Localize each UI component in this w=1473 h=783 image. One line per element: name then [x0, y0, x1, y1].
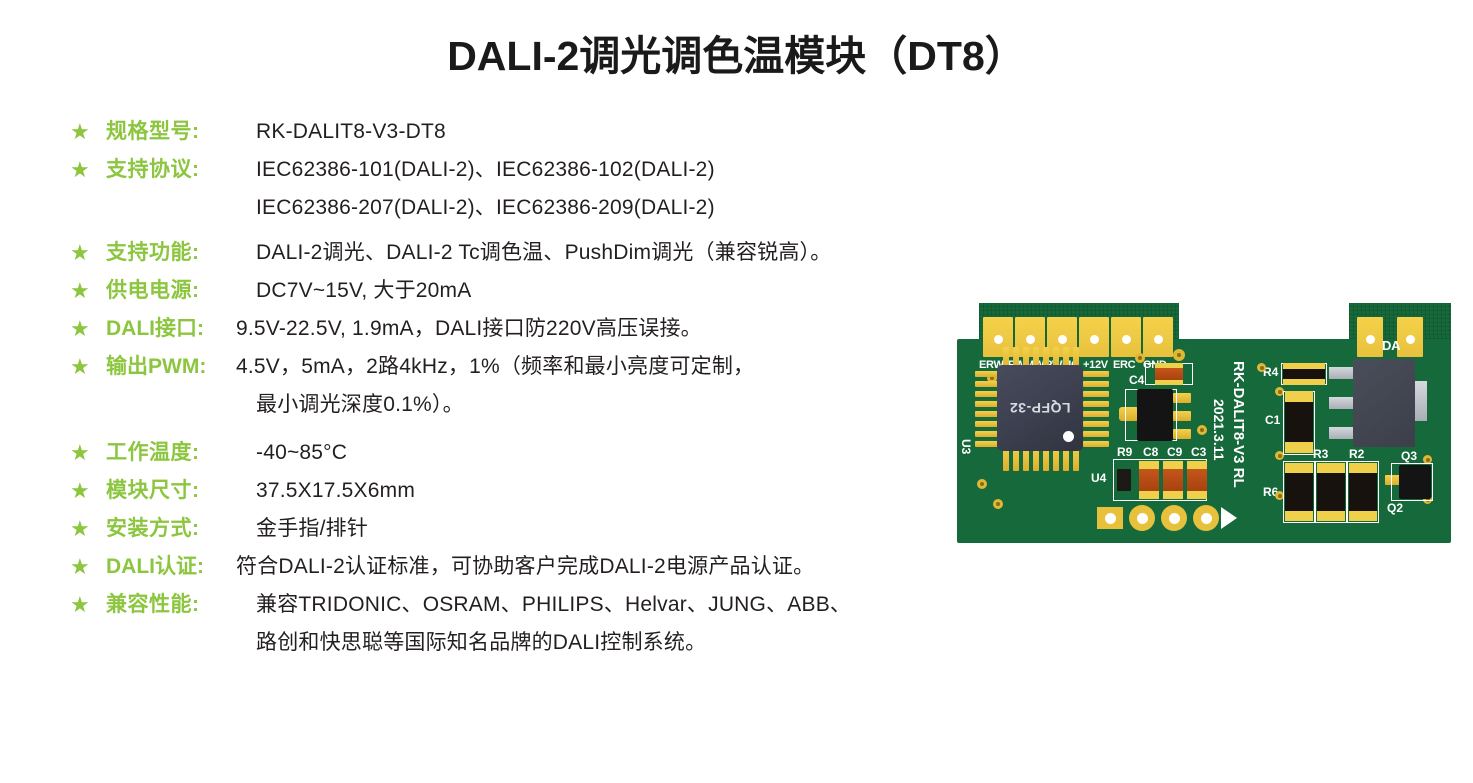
pad-hole	[1058, 335, 1067, 344]
silk-board-id: RK-DALIT8-V3 RL	[1230, 361, 1247, 488]
spec-value: 37.5X17.5X6mm	[256, 472, 998, 510]
pad-hole	[1406, 335, 1415, 344]
spec-value-continued: 路创和快思聪等国际知名品牌的DALI控制系统。	[256, 624, 998, 662]
main-chip-lqfp32: LQFP-32	[997, 365, 1083, 451]
spec-value: IEC62386-101(DALI-2)、IEC62386-102(DALI-2…	[256, 151, 998, 189]
via	[1135, 353, 1145, 363]
dali-2-pcb-module-photo: ERW PWMW PWMC +12V ERC GND DA	[957, 303, 1451, 543]
pad-hole	[1122, 335, 1131, 344]
spec-row: ★ DALI认证: 符合DALI-2认证标准，可协助客户完成DALI-2电源产品…	[68, 548, 998, 586]
spec-value: 符合DALI-2认证标准，可协助客户完成DALI-2电源产品认证。	[236, 548, 998, 586]
star-icon: ★	[68, 272, 106, 310]
dali-pad-left	[1357, 317, 1383, 357]
spec-label: 兼容性能:	[106, 586, 256, 624]
via	[993, 499, 1003, 509]
spec-label: 安装方式:	[106, 510, 256, 548]
via	[1173, 349, 1185, 361]
component-r6	[1285, 463, 1313, 521]
pad-hole	[994, 335, 1003, 344]
star-icon: ★	[68, 472, 106, 510]
spec-label: DALI接口:	[106, 310, 236, 348]
spec-value: RK-DALIT8-V3-DT8	[256, 113, 998, 151]
pad-hole	[1366, 335, 1375, 344]
spec-label: 支持功能:	[106, 234, 256, 272]
page-title: DALI-2调光调色温模块（DT8）	[0, 22, 1473, 82]
chip-marking: LQFP-32	[997, 400, 1083, 416]
chip-pin1-dot	[1063, 431, 1074, 442]
spec-label: DALI认证:	[106, 548, 236, 586]
spec-row: ★ 模块尺寸: 37.5X17.5X6mm	[68, 472, 998, 510]
silk-c4: C4	[1129, 373, 1144, 387]
spec-row: ★ 支持协议: IEC62386-101(DALI-2)、IEC62386-10…	[68, 151, 998, 189]
silk-c8: C8	[1143, 445, 1158, 459]
polarity-triangle-marker	[1221, 507, 1237, 529]
component-regulator-sot	[1137, 389, 1173, 441]
via	[977, 479, 987, 489]
edge-pad-gnd	[1143, 317, 1173, 357]
silk-c1: C1	[1265, 413, 1280, 427]
edge-pad-12v	[1079, 317, 1109, 357]
star-icon: ★	[68, 434, 106, 472]
component-c9	[1163, 461, 1183, 499]
spec-row: ★ 兼容性能: 兼容TRIDONIC、OSRAM、PHILIPS、Helvar、…	[68, 586, 998, 624]
component-q3	[1353, 359, 1415, 447]
spec-label: 规格型号:	[106, 113, 256, 151]
spec-row: ★ 供电电源: DC7V~15V, 大于20mA	[68, 272, 998, 310]
silk-u3: U3	[959, 439, 973, 454]
silk-u4: U4	[1091, 471, 1106, 485]
edge-pad-pwmw	[1015, 317, 1045, 357]
silk-c9: C9	[1167, 445, 1182, 459]
silk-q3: Q3	[1401, 449, 1417, 463]
spec-row: ★ 支持功能: DALI-2调光、DALI-2 Tc调色温、PushDim调光（…	[68, 234, 998, 272]
bottom-square-pad	[1097, 507, 1123, 529]
spec-label: 工作温度:	[106, 434, 256, 472]
spec-label: 支持协议:	[106, 151, 256, 189]
spec-value: 金手指/排针	[256, 510, 998, 548]
component-q2	[1399, 465, 1431, 499]
spec-label: 输出PWM:	[106, 348, 236, 386]
star-icon: ★	[68, 113, 106, 151]
component-c3	[1187, 461, 1207, 499]
row-gap	[68, 424, 998, 434]
spec-value: DC7V~15V, 大于20mA	[256, 272, 998, 310]
component-r3	[1317, 463, 1345, 521]
via	[1197, 425, 1207, 435]
edge-pad-erc	[1111, 317, 1141, 357]
bottom-round-pad-3	[1193, 505, 1219, 531]
star-icon: ★	[68, 510, 106, 548]
star-icon: ★	[68, 234, 106, 272]
pad-label-erc: ERC	[1113, 359, 1135, 371]
spec-row: ★ 规格型号: RK-DALIT8-V3-DT8	[68, 113, 998, 151]
star-icon: ★	[68, 348, 106, 386]
component-r4	[1283, 363, 1325, 385]
component-c4-cap	[1155, 363, 1183, 385]
spec-value: DALI-2调光、DALI-2 Tc调色温、PushDim调光（兼容锐高）。	[256, 234, 998, 272]
bottom-round-pad-2	[1161, 505, 1187, 531]
silk-c3: C3	[1191, 445, 1206, 459]
spec-row: ★ 工作温度: -40~85°C	[68, 434, 998, 472]
spec-row-continuation: 最小调光深度0.1%）。	[68, 386, 998, 424]
star-icon: ★	[68, 310, 106, 348]
star-icon: ★	[68, 548, 106, 586]
spec-value-continued: IEC62386-207(DALI-2)、IEC62386-209(DALI-2…	[256, 189, 998, 227]
spec-row-continuation: IEC62386-207(DALI-2)、IEC62386-209(DALI-2…	[68, 189, 998, 227]
row-gap	[68, 227, 998, 234]
bottom-round-pad-1	[1129, 505, 1155, 531]
spec-value: -40~85°C	[256, 434, 998, 472]
silk-r3: R3	[1313, 447, 1328, 461]
silk-q2: Q2	[1387, 501, 1403, 515]
spec-row: ★ 输出PWM: 4.5V，5mA，2路4kHz，1%（频率和最小亮度可定制，	[68, 348, 998, 386]
dali-pad-right	[1397, 317, 1423, 357]
spec-row-continuation: 路创和快思聪等国际知名品牌的DALI控制系统。	[68, 624, 998, 662]
spec-value: 4.5V，5mA，2路4kHz，1%（频率和最小亮度可定制，	[236, 348, 998, 386]
spec-row: ★ 安装方式: 金手指/排针	[68, 510, 998, 548]
pad-label-12v: +12V	[1083, 359, 1108, 371]
spec-value: 兼容TRIDONIC、OSRAM、PHILIPS、Helvar、JUNG、ABB…	[256, 586, 998, 624]
silk-r9: R9	[1117, 445, 1132, 459]
silk-r2: R2	[1349, 447, 1364, 461]
spec-row: ★ DALI接口: 9.5V-22.5V, 1.9mA，DALI接口防220V高…	[68, 310, 998, 348]
component-r9	[1117, 469, 1131, 491]
component-c8	[1139, 461, 1159, 499]
pad-label-da: DA	[1382, 338, 1400, 353]
component-r2	[1349, 463, 1377, 521]
star-icon: ★	[68, 586, 106, 624]
specification-list: ★ 规格型号: RK-DALIT8-V3-DT8 ★ 支持协议: IEC6238…	[68, 113, 998, 662]
pad-hole	[1026, 335, 1035, 344]
pad-hole	[1154, 335, 1163, 344]
silk-date-code: 2021.3.11	[1211, 399, 1227, 461]
star-icon: ★	[68, 151, 106, 189]
spec-label: 供电电源:	[106, 272, 256, 310]
spec-value: 9.5V-22.5V, 1.9mA，DALI接口防220V高压误接。	[236, 310, 998, 348]
pad-hole	[1090, 335, 1099, 344]
spec-value-continued: 最小调光深度0.1%）。	[256, 386, 998, 424]
spec-label: 模块尺寸:	[106, 472, 256, 510]
component-c1	[1285, 391, 1313, 453]
